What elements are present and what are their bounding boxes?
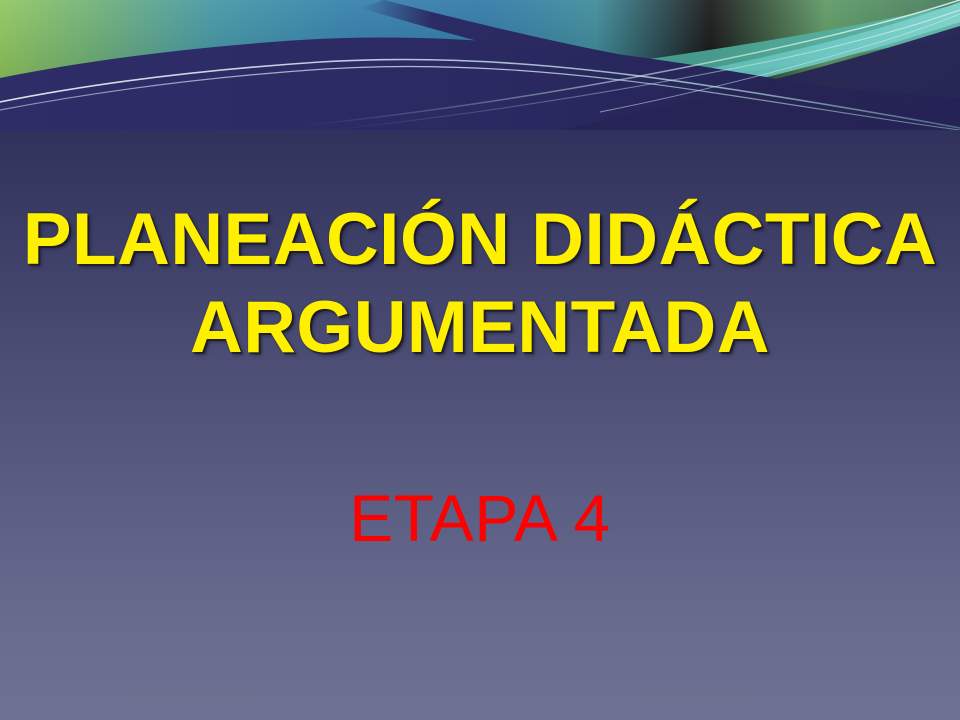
subtitle-line-1: ETAPA 4 xyxy=(0,482,960,554)
slide-title: PLANEACIÓN DIDÁCTICA ARGUMENTADA xyxy=(0,196,960,372)
title-line-2: ARGUMENTADA xyxy=(0,284,960,372)
wave-band-decoration xyxy=(0,0,960,130)
presentation-slide: PLANEACIÓN DIDÁCTICA ARGUMENTADA ETAPA 4 xyxy=(0,0,960,720)
slide-subtitle: ETAPA 4 xyxy=(0,482,960,554)
wave-band-graphic xyxy=(0,0,960,130)
title-line-1: PLANEACIÓN DIDÁCTICA xyxy=(0,196,960,284)
